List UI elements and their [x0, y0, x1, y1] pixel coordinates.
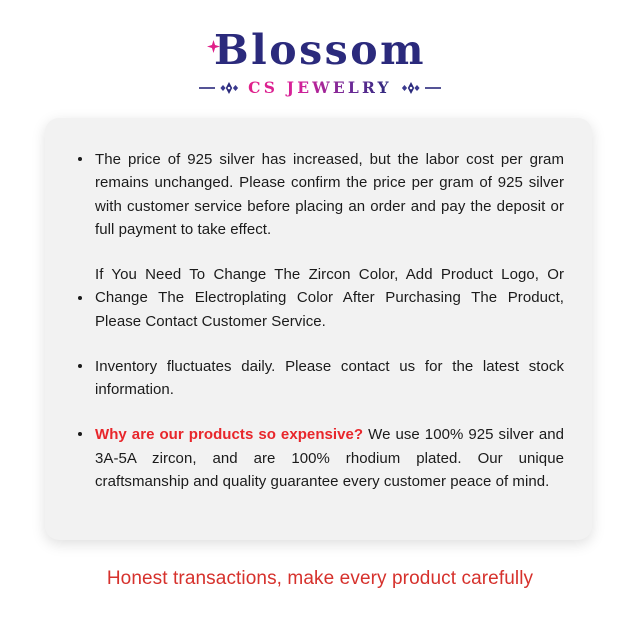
note-text: Inventory fluctuates daily. Please conta…	[95, 358, 564, 398]
notice-card: The price of 925 silver has increased, b…	[45, 118, 592, 540]
notice-list: The price of 925 silver has increased, b…	[73, 148, 564, 493]
brand-name-text: Blossom	[214, 26, 426, 74]
brand-tagline-row: CS JEWELRY	[0, 78, 640, 97]
diamond-flourish-left-icon	[199, 81, 241, 95]
note-text: The price of 925 silver has increased, b…	[95, 151, 564, 238]
list-item: Inventory fluctuates daily. Please conta…	[73, 355, 564, 402]
note-emphasis: Why are our products so expensive?	[95, 426, 363, 443]
list-item: If You Need To Change The Zircon Color, …	[73, 263, 564, 333]
diamond-flourish-right-icon	[399, 81, 441, 95]
bullet-icon	[78, 432, 82, 436]
list-item: Why are our products so expensive? We us…	[73, 423, 564, 493]
list-item: The price of 925 silver has increased, b…	[73, 148, 564, 241]
bullet-icon	[78, 157, 82, 161]
brand-header: Blossom CS JEWELRY	[0, 0, 640, 97]
brand-tagline-text: CS JEWELRY	[248, 78, 392, 97]
note-text: If You Need To Change The Zircon Color, …	[95, 266, 564, 330]
bullet-icon	[78, 296, 82, 300]
brand-name: Blossom	[210, 30, 430, 71]
bullet-icon	[78, 364, 82, 368]
footer-slogan: Honest transactions, make every product …	[0, 568, 640, 590]
